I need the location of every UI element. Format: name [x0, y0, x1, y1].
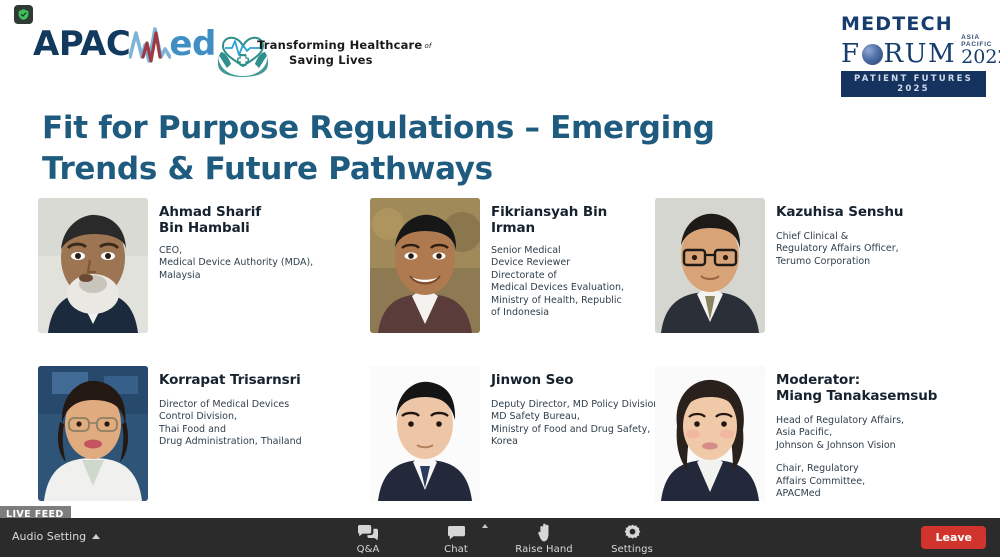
speaker-name: Kazuhisa Senshu — [776, 204, 946, 220]
settings-button[interactable]: Settings — [601, 520, 663, 555]
live-feed-badge: LIVE FEED — [0, 506, 71, 518]
speaker-name: Moderator: Miang Tanakasemsub — [776, 372, 961, 404]
avatar — [655, 366, 765, 501]
raise-hand-icon — [537, 523, 552, 542]
avatar — [655, 198, 765, 333]
tagline-line-2: Saving Lives — [257, 54, 430, 67]
transforming-healthcare-logo: Transforming Healthcareof Saving Lives — [215, 24, 405, 80]
chat-label: Chat — [444, 544, 468, 555]
medtech-forum-rum: RUM — [884, 41, 957, 68]
speaker-card-kazuhisa-senshu: Kazuhisa Senshu Chief Clinical & Regulat… — [655, 198, 946, 333]
qa-button[interactable]: Q&A — [337, 520, 399, 555]
settings-label: Settings — [611, 544, 653, 555]
speaker-name: Korrapat Trisarnsri — [159, 372, 359, 388]
chat-bubble-icon — [447, 523, 466, 542]
transforming-healthcare-tagline: Transforming Healthcareof Saving Lives — [257, 39, 430, 67]
audio-setting-button[interactable]: Audio Setting — [12, 530, 100, 543]
speaker-role: Chief Clinical & Regulatory Affairs Offi… — [776, 231, 946, 268]
speaker-name: Ahmad Sharif Bin Hambali — [159, 204, 339, 236]
tagline-of: of — [424, 40, 431, 53]
avatar — [370, 198, 480, 333]
speaker-row-1: Ahmad Sharif Bin Hambali CEO, Medical De… — [0, 198, 1000, 366]
speaker-role: Senior Medical Device Reviewer Directora… — [491, 245, 651, 319]
chevron-up-icon[interactable] — [482, 524, 488, 528]
leave-button[interactable]: Leave — [921, 526, 986, 549]
speaker-role: Deputy Director, MD Policy Division, MD … — [491, 399, 676, 449]
tagline-line-1: Transforming Healthcare — [257, 38, 422, 52]
raise-hand-button[interactable]: Raise Hand — [513, 520, 575, 555]
speaker-role-secondary: Chair, Regulatory Affairs Committee, APA… — [776, 463, 961, 500]
globe-dot-icon — [862, 44, 883, 65]
toolbar-actions: Q&A Chat Raise Hand — [337, 520, 663, 555]
meeting-toolbar: Audio Setting Q&A Chat — [0, 518, 1000, 557]
apacmed-logo-ed: ed — [169, 27, 215, 61]
shared-slide: APAC ed — [0, 0, 1000, 518]
audio-setting-label: Audio Setting — [12, 530, 86, 543]
speaker-grid: Ahmad Sharif Bin Hambali CEO, Medical De… — [0, 198, 1000, 518]
apacmed-logo: APAC ed — [33, 27, 216, 61]
avatar — [38, 198, 148, 333]
speaker-name: Jinwon Seo — [491, 372, 676, 388]
speaker-card-miang-tanakasemsub: Moderator: Miang Tanakasemsub Head of Re… — [655, 366, 961, 501]
qa-label: Q&A — [357, 544, 380, 555]
medtech-forum-year: 2022 — [961, 48, 1000, 67]
speaker-role: Director of Medical Devices Control Divi… — [159, 399, 359, 449]
medtech-forum-word: F RUM — [841, 41, 956, 68]
medtech-forum-theme-bar: PATIENT FUTURES 2025 — [841, 71, 986, 97]
avatar — [370, 366, 480, 501]
chevron-up-icon[interactable] — [92, 534, 100, 539]
raise-hand-label: Raise Hand — [515, 544, 573, 555]
medtech-forum-line1: MEDTECH — [841, 14, 986, 34]
meeting-window: APAC ed — [0, 0, 1000, 557]
medtech-forum-logo: MEDTECH F RUM ASIA PACIFIC 2022 PATIENT … — [841, 14, 986, 97]
medtech-forum-f: F — [841, 41, 861, 68]
speaker-card-fikriansyah-bin-irman: Fikriansyah Bin Irman Senior Medical Dev… — [370, 198, 651, 333]
slide-logo-band: APAC ed — [0, 0, 1000, 100]
avatar — [38, 366, 148, 501]
speaker-role: CEO, Medical Device Authority (MDA), Mal… — [159, 245, 339, 282]
apacmed-logo-apac: APAC — [33, 27, 130, 61]
speaker-name: Fikriansyah Bin Irman — [491, 204, 651, 236]
speaker-card-korrapat-trisarnsri: Korrapat Trisarnsri Director of Medical … — [38, 366, 359, 501]
chat-button[interactable]: Chat — [425, 520, 487, 555]
apacmed-logo-waveform-icon — [129, 31, 171, 67]
speaker-card-jinwon-seo: Jinwon Seo Deputy Director, MD Policy Di… — [370, 366, 676, 501]
gear-icon — [624, 523, 641, 542]
speaker-role: Head of Regulatory Affairs, Asia Pacific… — [776, 415, 961, 452]
speaker-row-2: Korrapat Trisarnsri Director of Medical … — [0, 366, 1000, 518]
speaker-card-ahmad-sharif-bin-hambali: Ahmad Sharif Bin Hambali CEO, Medical De… — [38, 198, 339, 333]
qa-bubbles-icon — [357, 523, 379, 542]
page-title: Fit for Purpose Regulations – Emerging T… — [42, 108, 742, 190]
